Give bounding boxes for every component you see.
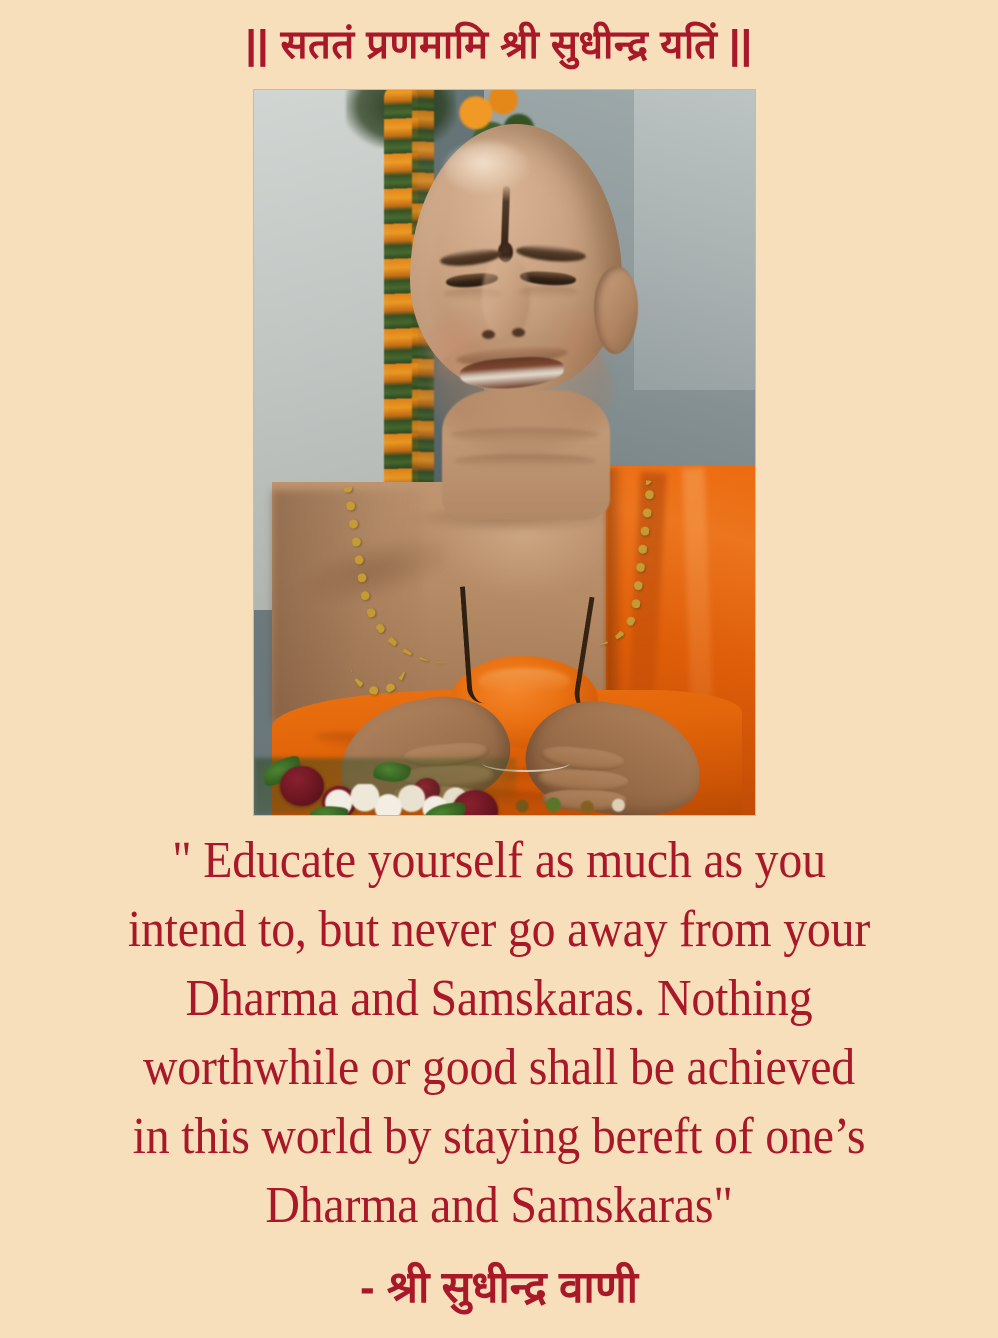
neck-fold: [454, 454, 596, 468]
scattered-petals: [504, 796, 634, 815]
saffron-robe-knot-highlight: [478, 668, 570, 694]
quote-line: worthwhile or good shall be achieved: [40, 1033, 958, 1102]
garland-rose: [280, 766, 324, 806]
quote-line: intend to, but never go away from your: [40, 895, 958, 964]
quote-text: " Educate yourself as much as you intend…: [0, 826, 998, 1240]
quote-line: Dharma and Samskaras. Nothing: [40, 964, 958, 1033]
header-invocation: || सततं प्रणमामि श्री सुधीन्द्र यतिं ||: [0, 18, 998, 72]
quote-line: Dharma and Samskaras": [40, 1171, 958, 1240]
quote-poster: || सततं प्रणमामि श्री सुधीन्द्र यतिं ||: [0, 0, 998, 1338]
quote-line: " Educate yourself as much as you: [40, 826, 958, 895]
nostril-left: [482, 330, 495, 339]
quote-line: in this world by staying bereft of one’s: [40, 1102, 958, 1171]
swami-portrait-photo: [254, 90, 755, 815]
head-highlight: [444, 142, 530, 194]
nose: [482, 258, 530, 340]
nostril-right: [512, 328, 525, 337]
wall-panel: [634, 90, 755, 390]
quote-attribution: - श्री सुधीन्द्र वाणी: [0, 1258, 998, 1318]
